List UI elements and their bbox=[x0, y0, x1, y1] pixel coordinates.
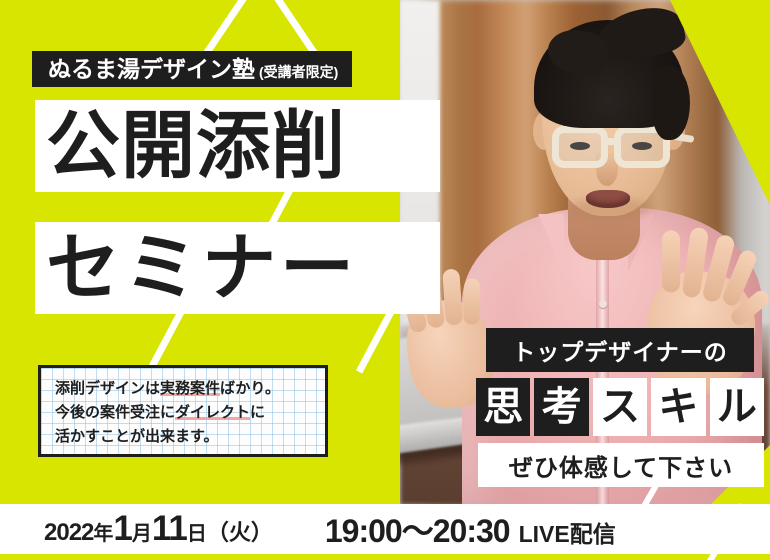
skill-char-0: 思 bbox=[476, 378, 530, 436]
footer-bar: 2022 年 1 月 11 日 （火） 19:00〜20:30 LIVE配信 bbox=[0, 504, 770, 554]
event-month-kanji: 月 bbox=[132, 517, 152, 546]
skill-char-3: キ bbox=[651, 378, 705, 436]
note-line-2-c: に bbox=[250, 404, 265, 421]
event-day: 11 bbox=[152, 509, 187, 549]
mouth bbox=[586, 190, 630, 208]
note-line-1-highlight: 実務案件 bbox=[160, 380, 220, 397]
skill-char-4: ル bbox=[710, 378, 764, 436]
title-line-2-text: セミナー bbox=[35, 231, 358, 305]
note-line-2-highlight: ダイレクト bbox=[175, 404, 250, 421]
course-badge-sub: (受講者限定) bbox=[259, 54, 338, 90]
shirt-collar-left bbox=[538, 214, 564, 272]
decor-diagonal-line bbox=[356, 308, 395, 373]
event-date: 2022 年 1 月 11 日 （火） bbox=[44, 509, 273, 549]
note-line-2: 今後の案件受注にダイレクトに bbox=[55, 401, 325, 425]
course-badge: ぬるま湯デザイン塾 (受講者限定) bbox=[32, 51, 352, 87]
top-designer-headline: トップデザイナーの bbox=[486, 328, 754, 372]
course-badge-main: ぬるま湯デザイン塾 bbox=[48, 51, 255, 87]
event-year: 2022 bbox=[44, 519, 93, 547]
note-line-1-c: ばかり。 bbox=[220, 380, 280, 397]
event-month: 1 bbox=[113, 509, 131, 549]
skill-char-1: 考 bbox=[534, 378, 588, 436]
event-time: 19:00〜20:30 LIVE配信 bbox=[325, 506, 616, 552]
title-line-1: 公開添削 bbox=[35, 100, 440, 192]
title-line-1-text: 公開添削 bbox=[35, 109, 346, 183]
event-year-kanji: 年 bbox=[93, 517, 113, 546]
skill-char-row: 思 考 ス キ ル bbox=[476, 378, 764, 436]
note-line-2-a: 今後の案件受注に bbox=[55, 404, 175, 421]
event-time-range: 19:00〜20:30 bbox=[325, 506, 510, 552]
event-day-kanji: 日 bbox=[187, 517, 207, 546]
note-line-3: 活かすことが出来ます。 bbox=[55, 425, 325, 449]
cta-experience: ぜひ体感して下さい bbox=[478, 443, 764, 487]
glasses-lens-left bbox=[552, 126, 608, 168]
seminar-banner: ぬるま湯デザイン塾 (受講者限定) 公開添削 セミナー 添削デザインは実務案件ば… bbox=[0, 0, 770, 560]
shirt-button bbox=[599, 300, 607, 308]
note-box: 添削デザインは実務案件ばかり。 今後の案件受注にダイレクトに 活かすことが出来ま… bbox=[38, 365, 328, 457]
title-line-2: セミナー bbox=[35, 222, 440, 314]
event-day-of-week: （火） bbox=[207, 515, 273, 547]
hair-sideburn bbox=[652, 66, 690, 140]
note-line-1: 添削デザインは実務案件ばかり。 bbox=[55, 377, 325, 401]
skill-char-2: ス bbox=[593, 378, 647, 436]
event-live-label: LIVE配信 bbox=[519, 515, 616, 549]
note-line-1-a: 添削デザインは bbox=[55, 380, 160, 397]
glasses-bridge bbox=[606, 138, 620, 145]
